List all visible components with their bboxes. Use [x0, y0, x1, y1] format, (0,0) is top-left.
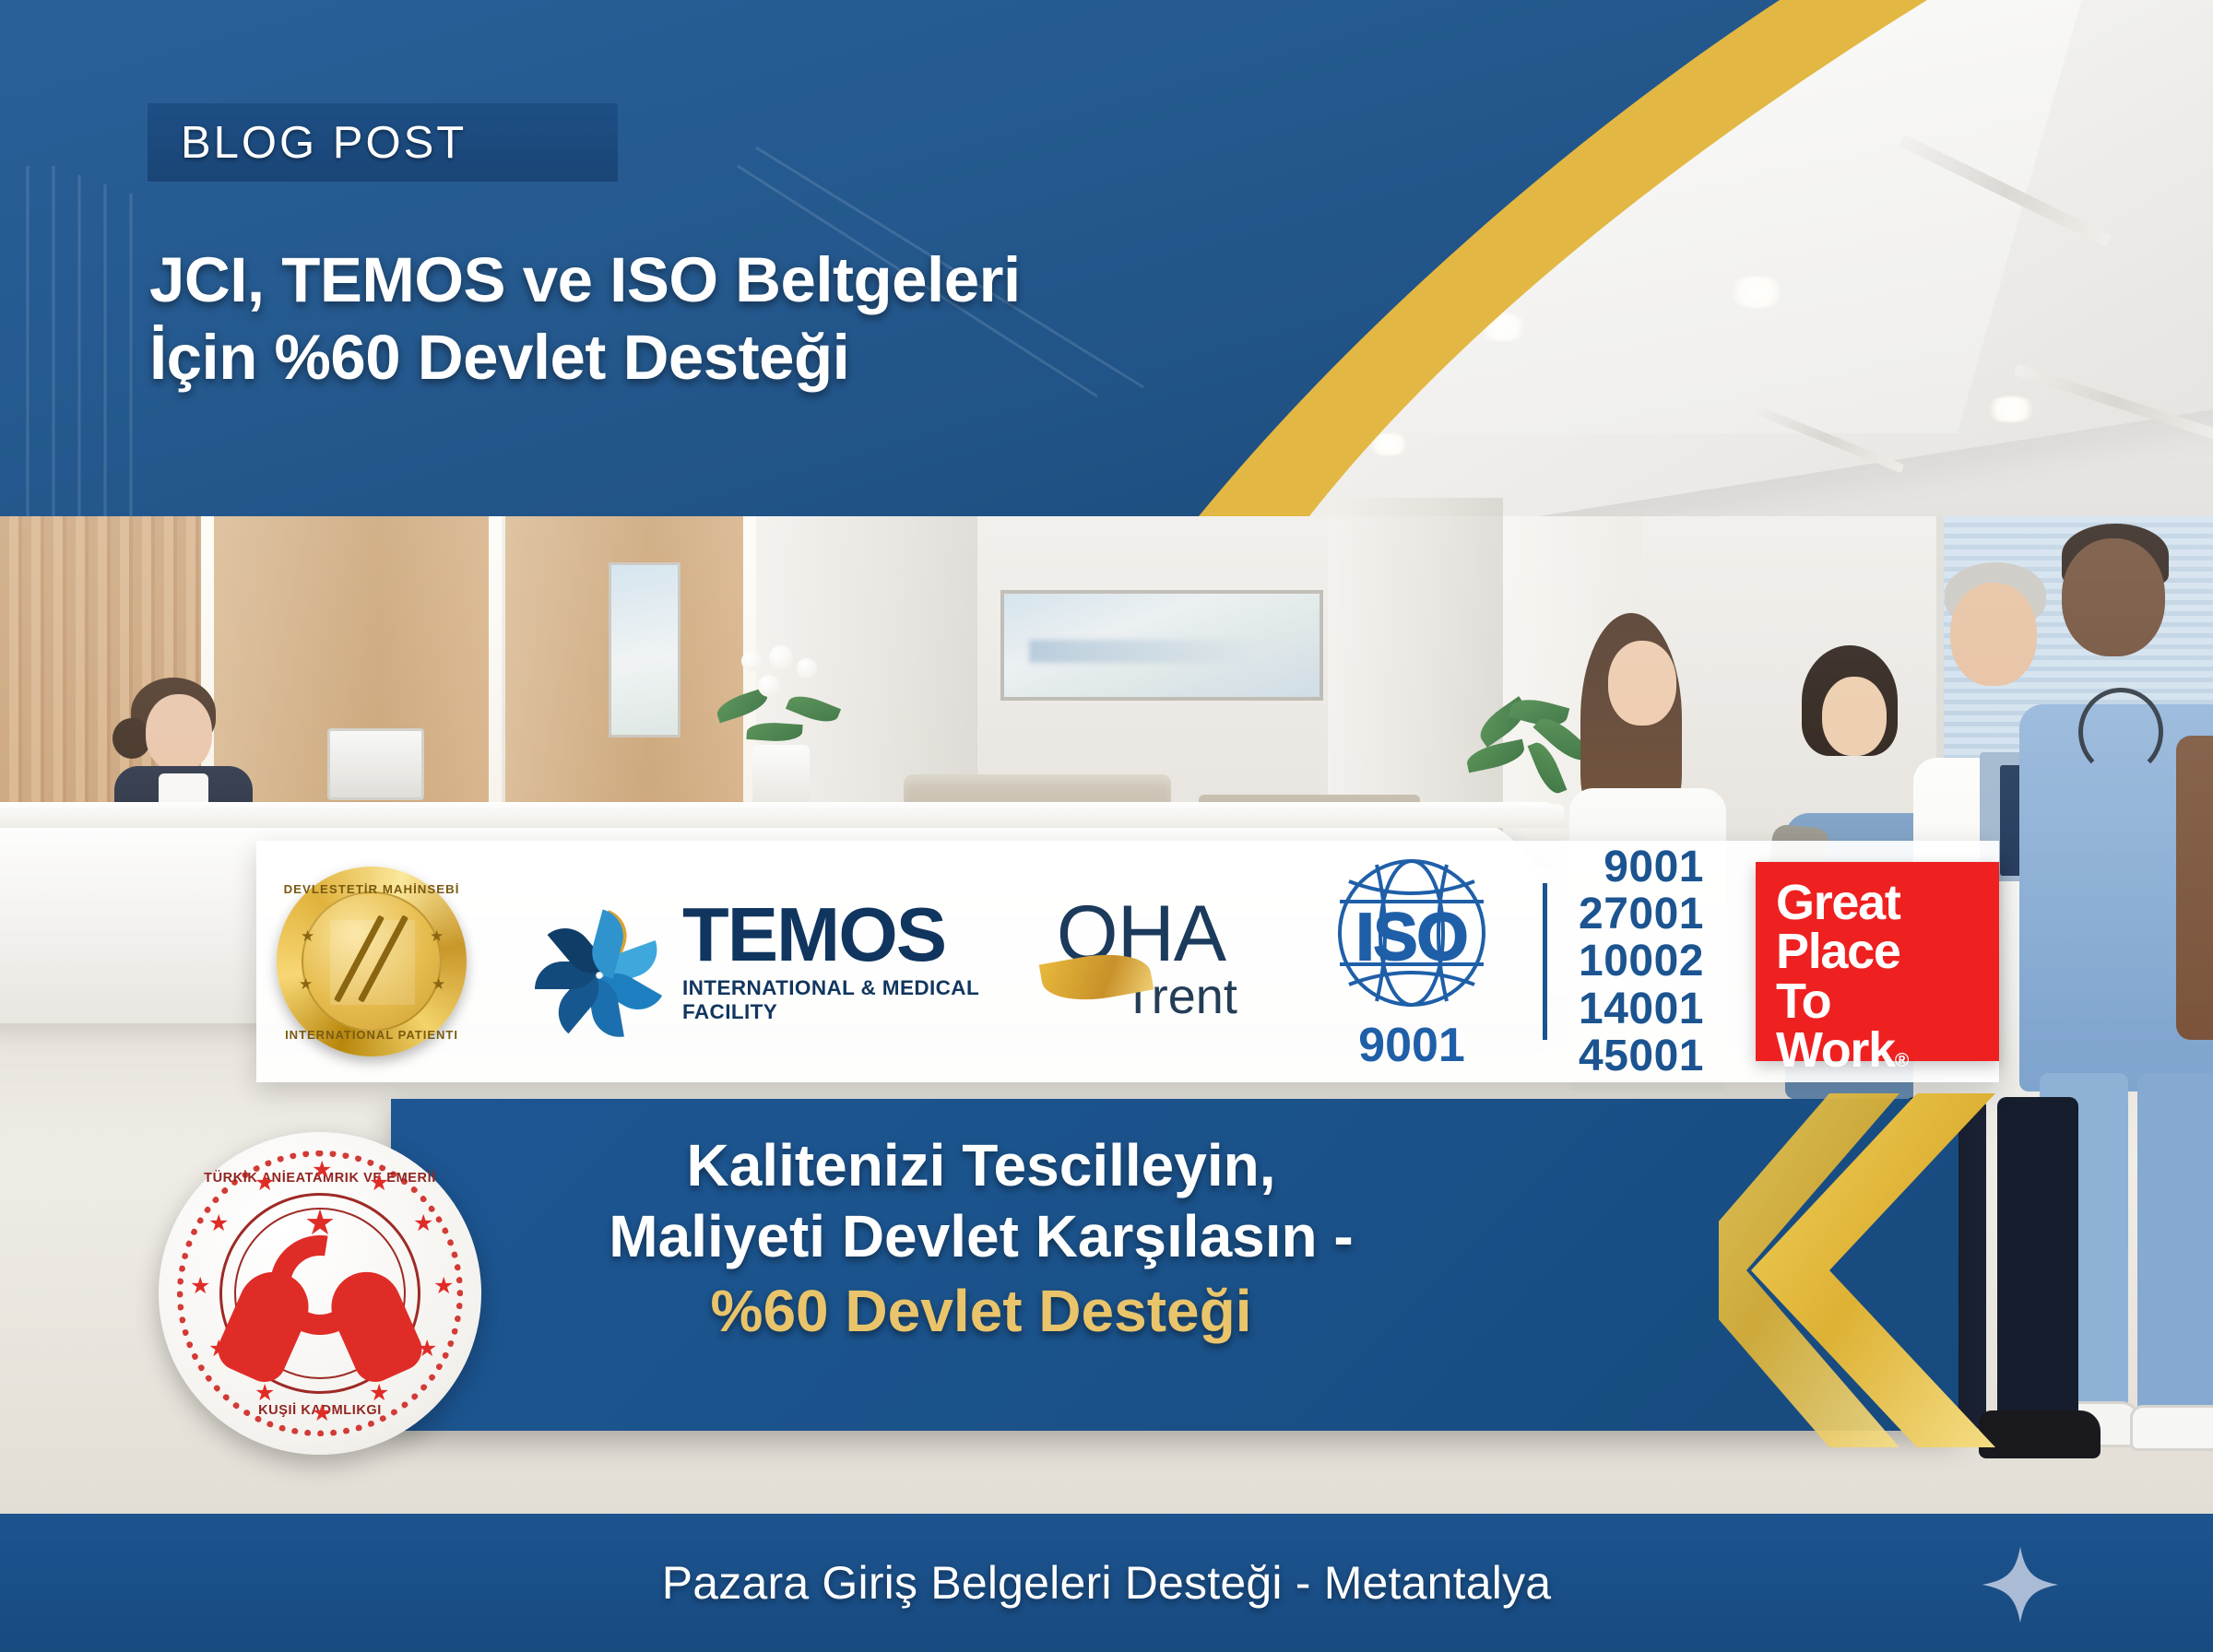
registered-mark: ® [1895, 1050, 1908, 1071]
medal-top-text: DEVLESTETİR MAHİNSEBİ [275, 882, 468, 896]
iso-standards-list: 9001 27001 10002 14001 45001 [1579, 844, 1704, 1080]
wall-art-small [609, 562, 680, 737]
star-icon: ★ [312, 1399, 332, 1427]
desk-monitor [327, 728, 424, 800]
gptw-line4: Work [1776, 1022, 1895, 1078]
footer-text: Pazara Giriş Belgeleri Desteği - Metanta… [662, 1556, 1552, 1610]
list-item: 14001 [1579, 985, 1704, 1032]
blog-post-badge-label: BLOG POST [181, 117, 467, 169]
blog-post-badge: BLOG POST [148, 103, 618, 182]
gptw-line1: Great [1776, 879, 1999, 927]
sparkle-icon [1981, 1545, 2060, 1624]
star-icon: ★ [432, 975, 445, 994]
wall-artwork [1000, 590, 1323, 701]
reception-desk-top [0, 802, 1568, 828]
vertical-divider [1543, 883, 1547, 1040]
star-icon: ★ [369, 1169, 389, 1197]
star-icon: ★ [299, 975, 313, 994]
temos-tagline: INTERNATIONAL & MEDICAL FACILITY [682, 976, 985, 1024]
list-item: 10002 [1579, 938, 1704, 985]
page-title-line1: JCI, TEMOS ve ISO Beltgeleri [149, 242, 1403, 319]
temos-logo: TEMOS INTERNATIONAL & MEDICAL FACILITY [531, 893, 985, 1030]
star-icon: ★ [369, 1379, 389, 1407]
iso-logo: ISO 9001 [1321, 850, 1502, 1073]
star-icon: ★ [254, 1379, 275, 1407]
page-title-line2: İçin %60 Devlet Desteği [149, 319, 1403, 396]
temos-swirl-icon [531, 893, 668, 1030]
gold-chevron-icon [1719, 1086, 2051, 1455]
medal-bottom-text: INTERNATIONAL PATIENTI [277, 1028, 467, 1042]
list-item: 27001 [1579, 891, 1704, 938]
iso-number: 9001 [1321, 1018, 1502, 1073]
star-icon: ★ [430, 927, 444, 946]
star-icon: ★ [413, 1209, 433, 1237]
temos-name: TEMOS [682, 899, 985, 972]
header: BLOG POST JCI, TEMOS ve ISO Beltgeleri İ… [0, 0, 2213, 516]
cta-highlight: %60 Devlet Desteği [446, 1276, 1516, 1347]
gold-medal-icon: DEVLESTETİR MAHİNSEBİ INTERNATIONAL PATI… [277, 867, 467, 1056]
gptw-line2: Place [1776, 927, 1999, 976]
list-item: 9001 [1604, 844, 1704, 891]
cta-banner: Kalitenizi Tescilleyin, Maliyeti Devlet … [391, 1099, 1959, 1431]
orchid-plant [710, 645, 858, 820]
page-title: JCI, TEMOS ve ISO Beltgeleri İçin %60 De… [149, 242, 1403, 396]
star-icon: ★ [208, 1209, 229, 1237]
ministry-seal-icon: TÜRKİK ANİEATAMRIK VE EMERİİ KUŞIİ KADML… [159, 1132, 481, 1455]
certification-bar: DEVLESTETİR MAHİNSEBİ INTERNATIONAL PATI… [256, 841, 1999, 1082]
star-icon: ★ [312, 1156, 332, 1184]
gptw-line3: To [1776, 977, 1999, 1026]
qha-trent-logo: QHA Trent [1057, 898, 1270, 1024]
cta-line2: Maliyeti Devlet Karşılasın - [446, 1201, 1516, 1272]
star-icon: ★ [301, 927, 314, 946]
star-icon: ★ [433, 1272, 454, 1300]
footer-bar: Pazara Giriş Belgeleri Desteği - Metanta… [0, 1514, 2213, 1652]
blog-post-banner: BLOG POST JCI, TEMOS ve ISO Beltgeleri İ… [0, 0, 2213, 1652]
star-icon: ★ [254, 1169, 275, 1197]
star-icon: ★ [190, 1272, 210, 1300]
cta-line1: Kalitenizi Tescilleyin, [446, 1130, 1516, 1201]
list-item: 45001 [1579, 1032, 1704, 1080]
cta-text: Kalitenizi Tescilleyin, Maliyeti Devlet … [446, 1130, 1516, 1346]
iso-word: ISO [1321, 900, 1502, 975]
great-place-to-work-badge: Great Place To Work® [1756, 862, 1999, 1061]
